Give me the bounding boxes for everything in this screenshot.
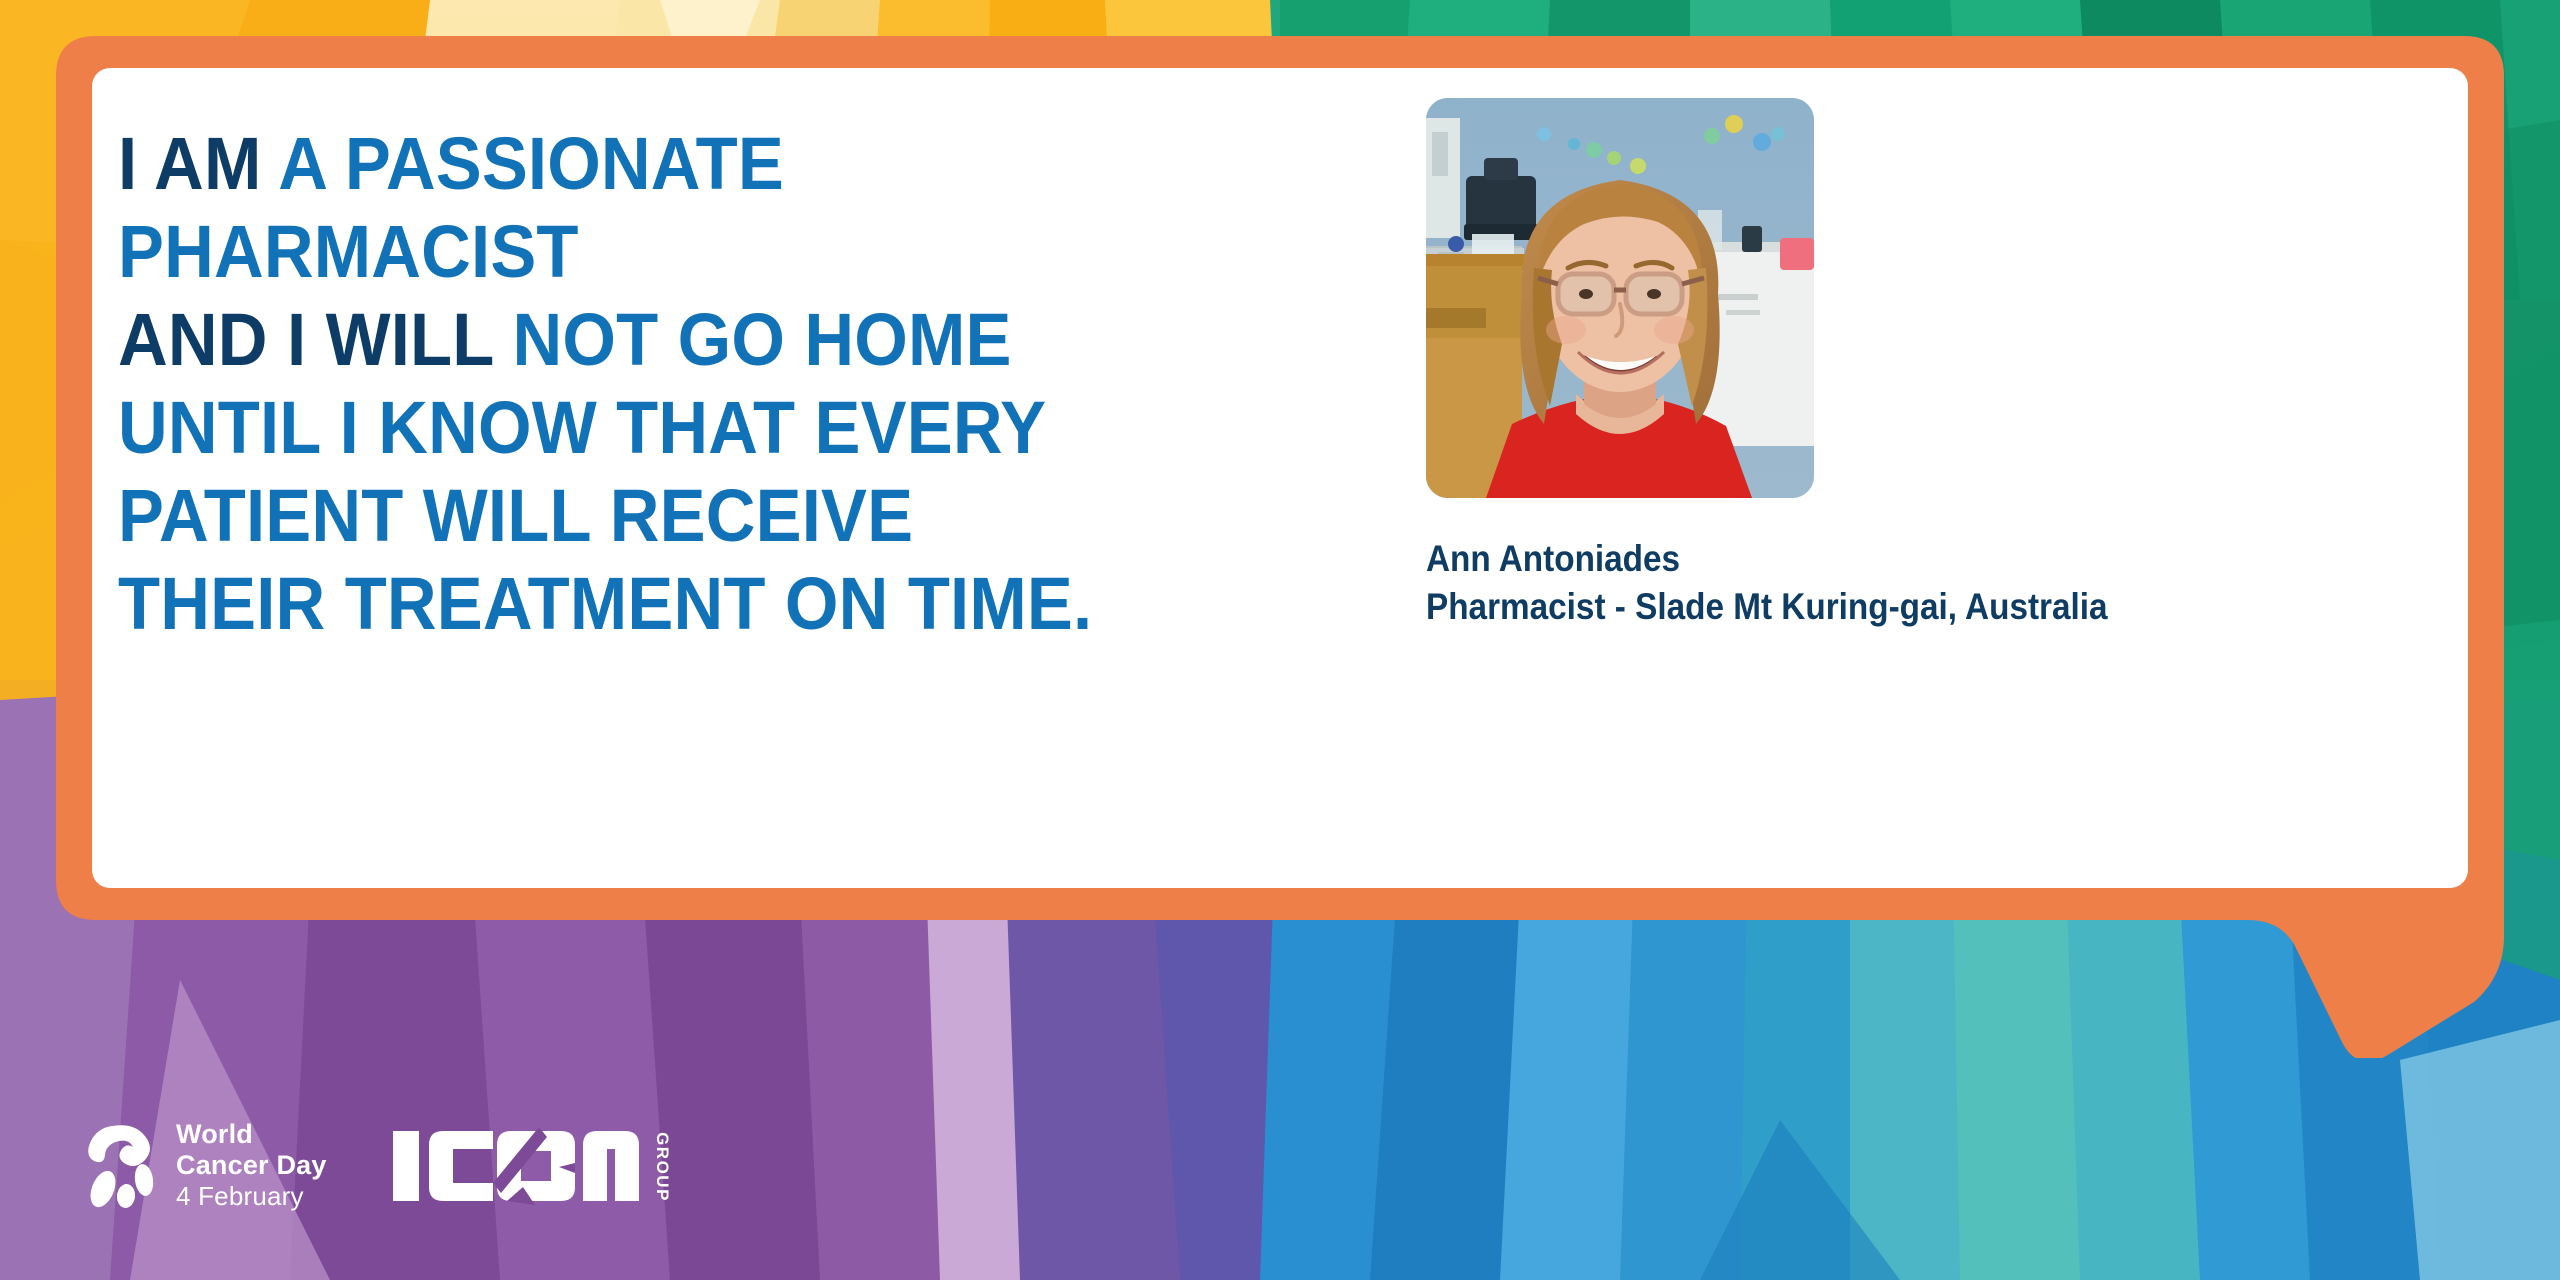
quote-segment-3-1: AND I WILL [118,298,513,381]
person-block: Ann Antoniades Pharmacist - Slade Mt Kur… [1418,74,2458,1018]
icon-group-logo: GROUP [389,1123,669,1209]
quote-line-4: UNTIL I KNOW THAT EVERY [118,384,1327,472]
quote-line-2: PHARMACIST [118,208,1327,296]
quote-text-block: I AM A PASSIONATE PHARMACIST AND I WILL … [118,74,1418,1018]
quote-segment-4-1: UNTIL I KNOW THAT EVERY [118,386,1046,469]
wcd-line-3: 4 February [176,1181,327,1212]
quote-line-1: I AM A PASSIONATE [118,120,1327,208]
quote-segment-1-2: A PASSIONATE [278,122,784,205]
quote-segment-6-1: THEIR TREATMENT ON TIME. [118,562,1092,645]
world-cancer-day-logo: World Cancer Day 4 February [86,1119,327,1212]
quote-line-5: PATIENT WILL RECEIVE [118,472,1327,560]
quote-segment-1-1: I AM [118,122,278,205]
quote-segment-5-1: PATIENT WILL RECEIVE [118,474,913,557]
icon-group-suffix: GROUP [653,1132,669,1202]
quote-segment-3-2: NOT GO HOME [513,298,1012,381]
person-role: Pharmacist - Slade Mt Kuring-gai, Austra… [1426,584,2108,630]
quote-speech-bubble: I AM A PASSIONATE PHARMACIST AND I WILL … [56,36,2504,1058]
attribution-block: Ann Antoniades Pharmacist - Slade Mt Kur… [1426,536,2183,630]
portrait-illustration [1426,98,1814,498]
person-name: Ann Antoniades [1426,536,2108,582]
quote-segment-2-1: PHARMACIST [118,210,579,293]
poster-canvas: I AM A PASSIONATE PHARMACIST AND I WILL … [0,0,2560,1280]
quote-line-6: THEIR TREATMENT ON TIME. [118,560,1327,648]
uicc-triskelion-icon [86,1123,160,1209]
portrait-photo [1426,98,1814,498]
world-cancer-day-wordmark: World Cancer Day 4 February [176,1119,327,1212]
quote-line-3: AND I WILL NOT GO HOME [118,296,1327,384]
wcd-line-1: World [176,1119,327,1150]
footer-logo-row: World Cancer Day 4 February GROUP [86,1119,669,1212]
wcd-line-2: Cancer Day [176,1150,327,1181]
